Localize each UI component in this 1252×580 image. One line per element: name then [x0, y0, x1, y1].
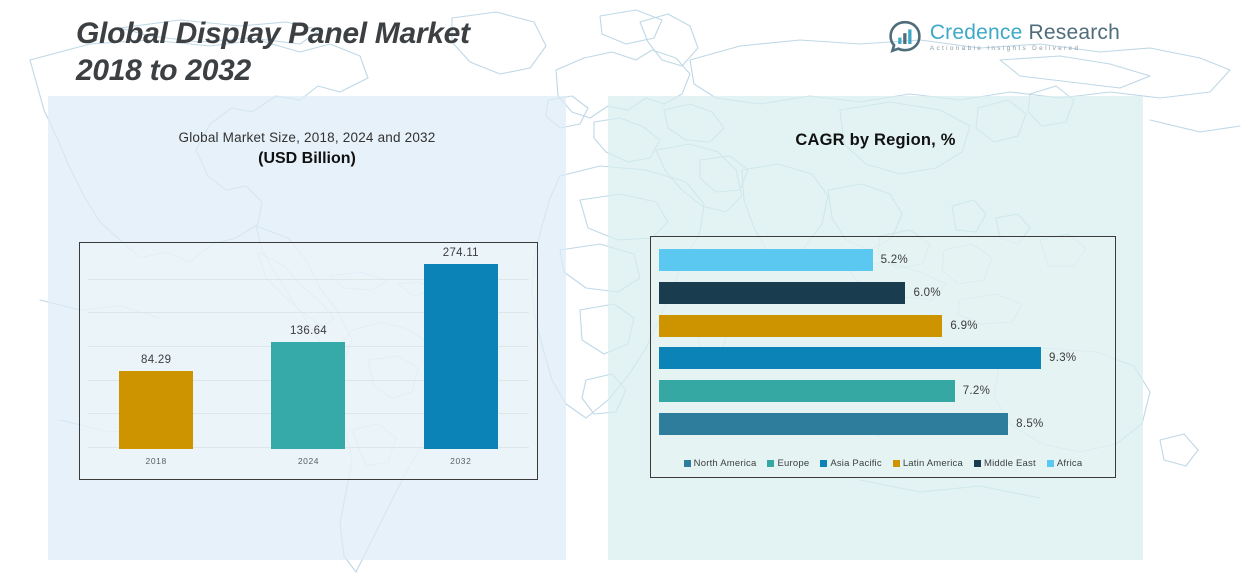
x-axis-label: 2024: [232, 456, 384, 466]
bar-chart-bubble-icon: [888, 20, 922, 54]
horizontal-bar: [659, 282, 905, 304]
logo-name: Credence Research: [930, 21, 1120, 44]
legend-item: North America: [684, 458, 757, 469]
legend-label: Europe: [777, 458, 809, 469]
page-title-line2: 2018 to 2032: [76, 53, 636, 90]
logo-text: Credence Research Actionable Insights De…: [930, 22, 1120, 53]
bar-value-label: 6.0%: [913, 287, 940, 299]
bar-value-label: 9.3%: [1049, 352, 1076, 364]
bar-value-label: 8.5%: [1016, 418, 1043, 430]
market-size-bar-chart: 84.29136.64274.11 201820242032: [79, 242, 538, 480]
legend-swatch: [1047, 460, 1054, 467]
legend-swatch: [820, 460, 827, 467]
legend-item: Africa: [1047, 458, 1082, 469]
horizontal-bar-row: 5.2%: [659, 249, 1109, 271]
vertical-bar-group: 84.29: [80, 243, 232, 449]
vertical-bar-group: 136.64: [232, 243, 384, 449]
logo-name-primary: Credence: [930, 21, 1023, 44]
legend-item: Middle East: [974, 458, 1036, 469]
vertical-bar-group: 274.11: [385, 243, 537, 449]
left-chart-title: Global Market Size, 2018, 2024 and 2032 …: [48, 130, 566, 168]
page-title-line1: Global Display Panel Market: [76, 17, 470, 50]
vertical-bars: 84.29136.64274.11: [80, 243, 537, 449]
horizontal-bar: [659, 413, 1008, 435]
vertical-bar: [424, 264, 498, 449]
legend-swatch: [893, 460, 900, 467]
horizontal-bar-row: 6.9%: [659, 315, 1109, 337]
legend-label: North America: [694, 458, 757, 469]
legend-item: Latin America: [893, 458, 963, 469]
vertical-bar: [119, 371, 193, 449]
legend-item: Europe: [767, 458, 809, 469]
chart-legend: North AmericaEuropeAsia PacificLatin Ame…: [651, 458, 1115, 469]
horizontal-bar: [659, 380, 955, 402]
right-chart-title: CAGR by Region, %: [608, 131, 1143, 150]
bar-value-label: 84.29: [141, 354, 171, 366]
left-chart-title-line2: (USD Billion): [48, 150, 566, 168]
legend-swatch: [767, 460, 774, 467]
horizontal-bars: 5.2%6.0%6.9%9.3%7.2%8.5%: [659, 249, 1109, 435]
bar-value-label: 136.64: [290, 325, 327, 337]
cagr-by-region-bar-chart: 5.2%6.0%6.9%9.3%7.2%8.5% North AmericaEu…: [650, 236, 1116, 478]
horizontal-bar-row: 7.2%: [659, 380, 1109, 402]
legend-label: Middle East: [984, 458, 1036, 469]
horizontal-bar-row: 6.0%: [659, 282, 1109, 304]
bar-value-label: 5.2%: [881, 254, 908, 266]
legend-swatch: [684, 460, 691, 467]
x-axis-label: 2032: [385, 456, 537, 466]
x-axis-labels: 201820242032: [80, 449, 537, 473]
horizontal-bar-row: 9.3%: [659, 347, 1109, 369]
bar-value-label: 274.11: [443, 247, 479, 259]
legend-label: Africa: [1057, 458, 1082, 469]
legend-label: Latin America: [903, 458, 963, 469]
horizontal-bar: [659, 315, 942, 337]
bar-value-label: 7.2%: [963, 385, 990, 397]
x-axis-label: 2018: [80, 456, 232, 466]
credence-research-logo: Credence Research Actionable Insights De…: [888, 20, 1120, 54]
horizontal-bar-row: 8.5%: [659, 413, 1109, 435]
legend-item: Asia Pacific: [820, 458, 882, 469]
logo-tagline: Actionable Insights Delivered: [930, 46, 1120, 53]
bar-value-label: 6.9%: [950, 320, 977, 332]
logo-name-secondary: Research: [1029, 21, 1120, 44]
left-chart-title-line1: Global Market Size, 2018, 2024 and 2032: [48, 130, 566, 145]
horizontal-bar: [659, 347, 1041, 369]
legend-swatch: [974, 460, 981, 467]
horizontal-bar: [659, 249, 873, 271]
page-title: Global Display Panel Market 2018 to 2032: [76, 16, 636, 89]
vertical-bar: [271, 342, 345, 449]
legend-label: Asia Pacific: [830, 458, 882, 469]
